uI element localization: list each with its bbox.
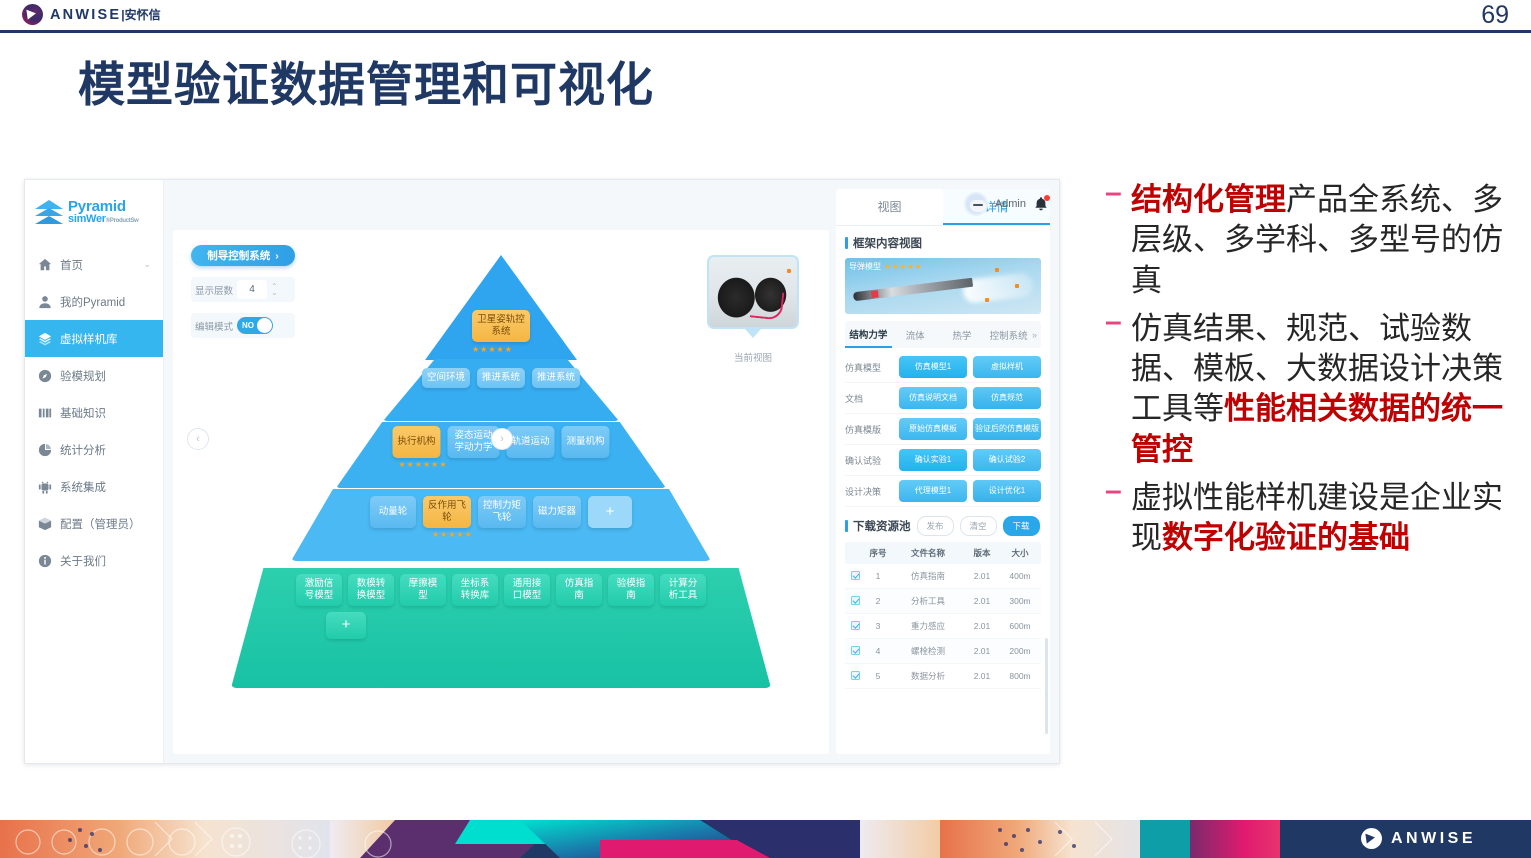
content-matrix: 仿真模型 仿真模型1 虚拟样机 文档 仿真说明文档 仿真规范 仿真模版 原始仿真…: [845, 352, 1041, 507]
section-accent-bar: [845, 520, 848, 532]
sidebar-label-my-pyramid: 我的Pyramid: [60, 294, 125, 310]
tab-view[interactable]: 视图: [836, 189, 943, 225]
matrix-chip[interactable]: 验证后的仿真模版: [973, 418, 1041, 440]
matrix-row: 确认试验 确认实验1 确认试验2: [845, 445, 1041, 476]
row-checkbox[interactable]: [845, 671, 865, 682]
compass-icon: [38, 369, 52, 383]
pyramid-tier4-stars: ★★★★★: [432, 530, 473, 539]
bullet-item: – 虚拟性能样机建设是企业实现数字化验证的基础: [1105, 478, 1525, 559]
column-filename: 文件名称: [891, 547, 965, 559]
pyramid-tier1-nodes: 卫星姿轨控系统 ★★★★★: [472, 310, 530, 354]
bullet-marker: –: [1105, 478, 1122, 559]
missile-rating-stars: ★★★★★: [884, 262, 923, 271]
layers-icon: [38, 332, 52, 346]
row-index: 1: [865, 571, 891, 581]
pyramid-base-nodes: 激励信号模型 数模转换模型 摩擦模型 坐标系转换库 通用接口模型 仿真指南 验模…: [296, 574, 706, 639]
sidebar-label-basic-knowledge: 基础知识: [60, 405, 106, 421]
missile-preview-label: 导弹模型 ★★★★★: [849, 261, 923, 272]
app-main: Admin 制导控制系统 › 显示层数 4 ⌃⌄ 编辑模式: [164, 180, 1059, 763]
matrix-row: 文档 仿真说明文档 仿真规范: [845, 383, 1041, 414]
subtab-fluid[interactable]: 流体: [892, 322, 939, 347]
table-row[interactable]: 1 仿真指南 2.01 400m: [845, 564, 1041, 589]
sidebar-label-virtual-prototype-library: 虚拟样机库: [60, 331, 118, 347]
logo-tag: ProductSw: [110, 218, 139, 224]
missile-body: [853, 278, 973, 302]
row-filename: 仿真指南: [891, 570, 965, 582]
bullet-text: 虚拟性能样机建设是企业实现数字化验证的基础: [1131, 478, 1525, 559]
matrix-chip[interactable]: 虚拟样机: [973, 356, 1041, 378]
pyramid-tier2-nodes: 空间环境 推进系统 推进系统: [422, 368, 580, 388]
matrix-row: 仿真模型 仿真模型1 虚拟样机: [845, 352, 1041, 383]
home-icon: [38, 258, 52, 272]
layers-logo-icon: [35, 199, 63, 225]
user-icon: [38, 295, 52, 309]
system-selector-button[interactable]: 制导控制系统 ›: [191, 245, 295, 266]
row-size: 600m: [999, 621, 1041, 631]
table-row[interactable]: 3 重力感应 2.01 600m: [845, 614, 1041, 639]
matrix-chip[interactable]: 确认试验2: [973, 449, 1041, 471]
pyramid-node[interactable]: 计算分析工具: [660, 574, 706, 606]
levels-input[interactable]: 4: [237, 280, 267, 299]
row-checkbox[interactable]: [845, 646, 865, 657]
sidebar-label-system-integration: 系统集成: [60, 479, 106, 495]
flame-decoration: [962, 272, 1034, 304]
brand-name: ANWISE|安怀信: [50, 6, 161, 23]
select-all-cell[interactable]: [845, 547, 865, 559]
subtab-control-system[interactable]: 控制系统: [985, 322, 1032, 347]
matrix-row-label: 仿真模型: [845, 361, 893, 374]
pyramid-node[interactable]: 激励信号模型: [296, 574, 342, 606]
pyramid-node[interactable]: 仿真指南: [556, 574, 602, 606]
frame-section-title: 框架内容视图: [836, 226, 1050, 258]
pyramid-node[interactable]: 推进系统: [477, 368, 525, 388]
row-checkbox[interactable]: [845, 571, 865, 582]
page-title: 模型验证数据管理和可视化: [78, 57, 654, 116]
publish-button[interactable]: 发布: [917, 516, 954, 536]
logo-line2: simWer: [68, 213, 106, 225]
pyramid-tier4-nodes: 动量轮 反作用飞轮 控制力矩飞轮 磁力矩器 + ★★★★★: [370, 496, 632, 539]
bullet-marker: –: [1105, 309, 1122, 470]
matrix-chip[interactable]: 设计优化1: [973, 480, 1041, 502]
matrix-row-label: 确认试验: [845, 454, 893, 467]
sidebar-item-statistical-analysis[interactable]: 统计分析: [25, 431, 163, 468]
pyramid-add-node-button[interactable]: +: [588, 496, 632, 528]
pyramid-node[interactable]: 动量轮: [370, 496, 416, 528]
pyramid-node[interactable]: 磁力矩器: [533, 496, 581, 528]
column-version: 版本: [965, 547, 999, 559]
pyramid-node[interactable]: 坐标系转换库: [452, 574, 498, 606]
info-icon: [38, 554, 52, 568]
brand-logo: ANWISE|安怀信: [22, 4, 161, 25]
subtab-thermal[interactable]: 热学: [939, 322, 986, 347]
matrix-chip[interactable]: 确认实验1: [899, 449, 967, 471]
row-size: 200m: [999, 646, 1041, 656]
row-version: 2.01: [965, 596, 999, 606]
row-version: 2.01: [965, 571, 999, 581]
toggle-knob: [257, 318, 272, 333]
sidebar-item-basic-knowledge[interactable]: 基础知识: [25, 394, 163, 431]
discipline-subtabs: 结构力学 流体 热学 控制系统 »: [845, 321, 1041, 348]
edit-mode-value: NO: [242, 321, 254, 330]
pyramid-base-add-button[interactable]: +: [326, 612, 366, 639]
row-filename: 分析工具: [891, 595, 965, 607]
bullet-emphasis: 结构化管理: [1131, 182, 1286, 218]
notification-bell-icon[interactable]: [1033, 196, 1049, 213]
pyramid-canvas: 制导控制系统 › 显示层数 4 ⌃⌄ 编辑模式 NO ‹ ›: [173, 230, 829, 754]
bullet-item: – 仿真结果、规范、试验数据、模板、大数据设计决策工具等性能相关数据的统一管控: [1105, 309, 1525, 470]
prev-arrow-button[interactable]: ‹: [187, 428, 209, 450]
clear-button[interactable]: 清空: [960, 516, 997, 536]
bullet-emphasis: 数字化验证的基础: [1162, 520, 1410, 556]
pyramid-node[interactable]: 通用接口模型: [504, 574, 550, 606]
row-size: 400m: [999, 571, 1041, 581]
table-row[interactable]: 2 分析工具 2.01 300m: [845, 589, 1041, 614]
bullet-text: 结构化管理产品全系统、多层级、多学科、多型号的仿真: [1131, 180, 1525, 301]
current-view-caption: 当前视图: [707, 350, 799, 364]
slide-footer: ANWISE: [0, 820, 1531, 858]
sidebar-label-validation-planning: 验模规划: [60, 368, 106, 384]
footer-brand: ANWISE: [1361, 828, 1476, 849]
row-version: 2.01: [965, 646, 999, 656]
next-arrow-button[interactable]: ›: [491, 428, 513, 450]
pyramid-node[interactable]: 卫星姿轨控系统: [472, 310, 530, 342]
section-accent-bar: [845, 237, 848, 249]
chevron-down-icon[interactable]: ⌄: [143, 259, 151, 270]
sidebar-item-configuration[interactable]: 配置（管理员）: [25, 505, 163, 542]
matrix-row: 仿真模版 原始仿真模板 验证后的仿真模版: [845, 414, 1041, 445]
anwise-mark-icon: [22, 4, 43, 25]
row-version: 2.01: [965, 621, 999, 631]
column-index: 序号: [865, 547, 891, 559]
sidebar-label-home: 首页: [60, 257, 83, 273]
robot-icon: [38, 480, 52, 494]
frame-section-label: 框架内容视图: [853, 235, 922, 251]
user-name: Admin: [995, 198, 1026, 210]
download-pool-header: 下载资源池 发布 清空 下载: [836, 507, 1050, 542]
callout-tip: [745, 329, 761, 338]
matrix-row-label: 设计决策: [845, 485, 893, 498]
row-checkbox[interactable]: [845, 621, 865, 632]
pie-chart-icon: [38, 443, 52, 457]
system-selector-label: 制导控制系统: [207, 248, 270, 263]
footer-brand-text: ANWISE: [1391, 830, 1476, 848]
sidebar-item-about-us[interactable]: 关于我们: [25, 542, 163, 579]
download-pool-label: 下载资源池: [853, 518, 911, 534]
avatar[interactable]: [964, 192, 988, 216]
bullet-text: 仿真结果、规范、试验数据、模板、大数据设计决策工具等性能相关数据的统一管控: [1131, 309, 1525, 470]
row-filename: 数据分析: [891, 670, 965, 682]
missile-preview-image[interactable]: 导弹模型 ★★★★★: [845, 258, 1041, 314]
sidebar-item-virtual-prototype-library[interactable]: 虚拟样机库: [25, 320, 163, 357]
sidebar-label-about-us: 关于我们: [60, 553, 106, 569]
bullet-item: – 结构化管理产品全系统、多层级、多学科、多型号的仿真: [1105, 180, 1525, 301]
download-pool-title: 下载资源池: [845, 518, 911, 534]
row-index: 4: [865, 646, 891, 656]
row-index: 2: [865, 596, 891, 606]
chevron-right-icon: ›: [275, 250, 279, 262]
pyramid-node[interactable]: 执行机构: [392, 426, 440, 458]
column-size: 大小: [999, 547, 1041, 559]
app-sidebar: Pyramid simWer®ProductSw 首页 ⌄ 我的Pyramid …: [25, 180, 164, 763]
edit-mode-control: 编辑模式 NO: [191, 313, 295, 338]
sidebar-item-validation-planning[interactable]: 验模规划: [25, 357, 163, 394]
logo-line1: Pyramid: [68, 199, 139, 214]
row-checkbox[interactable]: [845, 596, 865, 607]
table-row[interactable]: 5 数据分析 2.01 800m: [845, 664, 1041, 689]
sidebar-item-my-pyramid[interactable]: 我的Pyramid: [25, 283, 163, 320]
pyramid-tier3-stars: ★★★★★★: [398, 460, 447, 469]
sidebar-label-statistical-analysis: 统计分析: [60, 442, 106, 458]
page-number: 69: [1481, 1, 1509, 30]
matrix-chip[interactable]: 原始仿真模板: [899, 418, 967, 440]
edit-mode-toggle[interactable]: NO: [237, 317, 273, 334]
row-version: 2.01: [965, 671, 999, 681]
matrix-row: 设计决策 代理模型1 设计优化1: [845, 476, 1041, 507]
pyramid-node[interactable]: 反作用飞轮: [423, 496, 471, 528]
edit-mode-label: 编辑模式: [195, 319, 233, 333]
pyramid-node[interactable]: 空间环境: [422, 368, 470, 388]
book-icon: [38, 406, 52, 420]
stepper-down-icon: ⌄: [271, 290, 278, 296]
sidebar-nav: 首页 ⌄ 我的Pyramid 虚拟样机库 验模规划 基础知识 统计分析: [25, 246, 163, 579]
sidebar-item-home[interactable]: 首页 ⌄: [25, 246, 163, 283]
row-filename: 螺栓检测: [891, 645, 965, 657]
sidebar-item-system-integration[interactable]: 系统集成: [25, 468, 163, 505]
canvas-controls: 制导控制系统 › 显示层数 4 ⌃⌄ 编辑模式 NO: [191, 245, 295, 338]
pyramid-node[interactable]: 测量机构: [562, 426, 610, 458]
row-size: 800m: [999, 671, 1041, 681]
info-panel: ‹ 视图 详情 框架内容视图 导弹模型 ★★★★★: [836, 189, 1050, 754]
box-icon: [38, 517, 52, 531]
row-size: 300m: [999, 596, 1041, 606]
matrix-row-label: 仿真模版: [845, 423, 893, 436]
slide-top-bar: ANWISE|安怀信 69: [0, 0, 1531, 30]
pyramid-node[interactable]: 摩擦模型: [400, 574, 446, 606]
pyramid-node[interactable]: 控制力矩飞轮: [478, 496, 526, 528]
pyramid-node[interactable]: 轨道运动: [506, 426, 554, 458]
pyramid-logo: Pyramid simWer®ProductSw: [25, 180, 163, 238]
subtabs-more-icon[interactable]: »: [1032, 330, 1041, 340]
pyramid-node[interactable]: 数模转换模型: [348, 574, 394, 606]
download-table-header: 序号 文件名称 版本 大小: [845, 542, 1041, 564]
matrix-chip[interactable]: 仿真说明文档: [899, 387, 967, 409]
pyramid-tier1-stars: ★★★★★: [472, 345, 513, 354]
bullet-list: – 结构化管理产品全系统、多层级、多学科、多型号的仿真 – 仿真结果、规范、试验…: [1105, 180, 1525, 567]
current-view-thumbnail[interactable]: [707, 255, 799, 329]
pyramid-node[interactable]: 验模指南: [608, 574, 654, 606]
current-view-callout: 当前视图: [707, 255, 799, 364]
footer-decoration: [0, 820, 1280, 858]
bullet-marker: –: [1105, 180, 1122, 301]
sidebar-label-configuration: 配置（管理员）: [60, 516, 141, 532]
app-topbar: Admin: [964, 186, 1049, 222]
row-filename: 重力感应: [891, 620, 965, 632]
matrix-row-label: 文档: [845, 392, 893, 405]
panel-scrollbar[interactable]: [1045, 638, 1048, 734]
missile-model-name: 导弹模型: [849, 261, 881, 272]
row-index: 3: [865, 621, 891, 631]
anwise-mark-icon: [1361, 828, 1382, 849]
download-table: 序号 文件名称 版本 大小 1 仿真指南 2.01 400m 2 分析工具 2.…: [845, 542, 1041, 689]
table-row[interactable]: 4 螺栓检测 2.01 200m: [845, 639, 1041, 664]
levels-control: 显示层数 4 ⌃⌄: [191, 277, 295, 302]
application-screenshot: Pyramid simWer®ProductSw 首页 ⌄ 我的Pyramid …: [24, 179, 1060, 764]
levels-stepper[interactable]: ⌃⌄: [271, 284, 278, 296]
subtab-structural-mechanics[interactable]: 结构力学: [845, 321, 892, 348]
matrix-chip[interactable]: 代理模型1: [899, 480, 967, 502]
header-divider: [0, 30, 1531, 33]
matrix-chip[interactable]: 仿真规范: [973, 387, 1041, 409]
notification-dot: [1044, 195, 1050, 201]
levels-label: 显示层数: [195, 283, 233, 297]
matrix-chip[interactable]: 仿真模型1: [899, 356, 967, 378]
download-button[interactable]: 下载: [1003, 516, 1040, 536]
row-index: 5: [865, 671, 891, 681]
pyramid-node[interactable]: 推进系统: [532, 368, 580, 388]
